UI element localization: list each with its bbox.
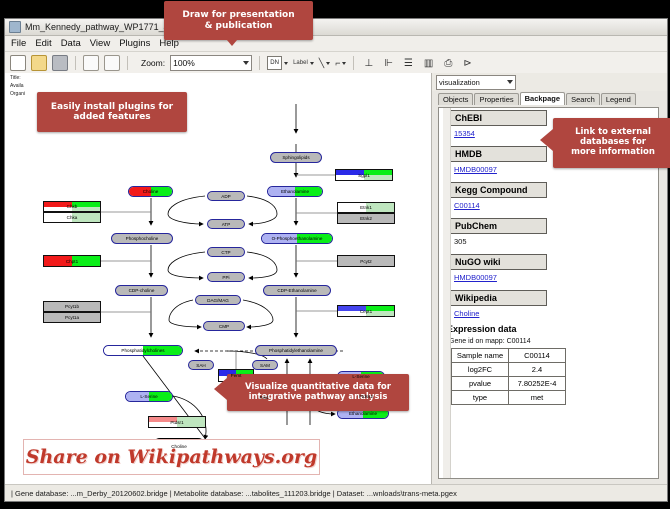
metabolite-node[interactable]: CDP-Ethanolamine [263, 285, 331, 296]
visualization-select[interactable]: visualization [436, 75, 516, 90]
metabolite-node[interactable]: CTP [207, 247, 245, 257]
app-icon [9, 21, 21, 33]
node-label: DAG/MAG [207, 298, 229, 303]
line-tool[interactable]: ╲ [319, 58, 330, 69]
db-wikipedia: Wikipedia Choline [449, 288, 658, 318]
metabolite-node[interactable]: L-Serine [125, 391, 173, 402]
node-label: CDP-choline [129, 288, 155, 293]
gene-node[interactable]: Chpt1 [43, 255, 101, 267]
node-label: Ethanolamine [281, 189, 309, 194]
open-folder-icon[interactable] [31, 55, 47, 71]
node-label: L-Serine [140, 394, 157, 399]
visualization-bar: visualization [432, 73, 667, 91]
callout-plugins: Easily install plugins for added feature… [37, 92, 187, 132]
expr-key: Sample name [452, 349, 509, 363]
tab-properties[interactable]: Properties [474, 93, 518, 105]
node-label: PPi [222, 275, 229, 280]
expr-value: met [509, 391, 566, 405]
panel-tabs: Objects Properties Backpage Search Legen… [432, 91, 667, 105]
gene-node[interactable]: Chkb [43, 201, 101, 212]
callout-draw-line1: Draw for presentation [182, 10, 294, 20]
arrow-tool[interactable]: ⌐ [335, 58, 346, 68]
visualization-value: visualization [439, 78, 480, 87]
toolbar-separator [127, 56, 128, 70]
node-label: Sphingolipids [282, 155, 309, 160]
node-label: Etnk2 [360, 216, 372, 221]
status-text: | Gene database: ...m_Derby_20120602.bri… [11, 489, 457, 498]
status-bar: | Gene database: ...m_Derby_20120602.bri… [5, 484, 667, 501]
metabolite-node[interactable]: SAH [188, 360, 214, 370]
metabolite-node[interactable]: DAG/MAG [195, 295, 241, 305]
callout-links-line3: more information [571, 148, 655, 158]
node-label: Chpt1 [66, 259, 78, 264]
gene-node[interactable]: Sgpl1 [335, 169, 393, 181]
line-icon: ╲ [319, 58, 324, 69]
expr-value: C00114 [509, 349, 566, 363]
callout-links-arrow [540, 129, 553, 151]
tab-legend[interactable]: Legend [601, 93, 636, 105]
callout-plugins-line2: added features [51, 112, 173, 122]
metabolite-node[interactable]: Choline [128, 186, 173, 197]
node-label: Pemt [231, 373, 242, 378]
node-label: Choline [143, 189, 159, 194]
db-pubchem-label: PubChem [449, 218, 547, 234]
node-label: ATP [222, 222, 231, 227]
paste-icon[interactable] [104, 55, 120, 71]
metabolite-node[interactable]: Ethanolamine [267, 186, 323, 197]
gene-node[interactable]: Pcyt2 [337, 255, 395, 267]
chevron-down-icon[interactable] [342, 62, 346, 65]
align-top-icon[interactable]: ⊥ [364, 58, 373, 69]
chevron-down-icon[interactable] [326, 62, 330, 65]
table-row: type met [452, 391, 566, 405]
callout-visualize: Visualize quantitative data for integrat… [227, 374, 409, 411]
db-kegg: Kegg Compound C00114 [449, 180, 658, 210]
db-pubchem-value: 305 [454, 237, 658, 246]
chevron-down-icon[interactable] [284, 62, 288, 65]
label-tool-label: Label [293, 60, 308, 66]
chevron-down-icon [507, 80, 513, 84]
callout-visualize-arrow [214, 378, 227, 400]
node-label: Pisd [260, 395, 269, 400]
arrow-icon: ⌐ [335, 58, 340, 68]
zoom-select[interactable]: 100% [170, 55, 252, 71]
gene-node[interactable]: Chka [43, 212, 101, 223]
db-kegg-label: Kegg Compound [449, 182, 547, 198]
table-row: Sample name C00114 [452, 349, 566, 363]
db-nugo: NuGO wiki HMDB00097 [449, 252, 658, 282]
expression-table: Sample name C00114 log2FC 2.4 pvalue 7.8… [451, 348, 566, 405]
chevron-down-icon[interactable] [310, 62, 314, 65]
tab-search[interactable]: Search [566, 93, 600, 105]
callout-draw-arrow [221, 33, 243, 46]
metabolite-node[interactable]: Phosphatidylethanolamine [255, 345, 337, 356]
label-tool[interactable]: Label [293, 60, 314, 66]
callout-plugins-line1: Easily install plugins for [51, 102, 173, 112]
node-label: Phosphatidylethanolamine [269, 348, 323, 353]
db-wikipedia-label: Wikipedia [449, 290, 547, 306]
expr-key: type [452, 391, 509, 405]
metabolite-node[interactable]: O-Phosphoethanolamine [261, 233, 333, 244]
node-label: CMP [219, 324, 229, 329]
node-label: Pcyt2 [360, 259, 372, 264]
gene-node[interactable]: Pcyt1a [43, 312, 101, 323]
node-label: Phosphatidylcholines [121, 348, 164, 353]
node-label: Etnk1 [360, 205, 372, 210]
callout-links: Link to external databases for more info… [553, 118, 670, 168]
db-pubchem: PubChem 305 [449, 216, 658, 246]
menu-view[interactable]: View [90, 38, 110, 49]
menu-bar: File Edit Data View Plugins Help [5, 36, 667, 52]
title-bar: Mm_Kennedy_pathway_WP1771_45176.gpml [5, 19, 667, 36]
expr-value: 7.80252E-4 [509, 377, 566, 391]
node-label: CTP [221, 250, 230, 255]
metabolite-node[interactable]: ADP [207, 191, 245, 201]
toolbar: Zoom: 100% DN Label ╲ ⌐ ⊥ [5, 52, 667, 75]
toolbar-separator [259, 56, 260, 70]
node-label: Sgpl1 [358, 173, 370, 178]
expression-heading: Expression data [447, 324, 658, 334]
node-label: Phosphocholine [126, 236, 159, 241]
node-label: Ptdsr1 [170, 420, 183, 425]
tab-objects[interactable]: Objects [438, 93, 473, 105]
metabolite-node[interactable]: Sphingolipids [270, 152, 322, 163]
node-label: Pcyt1b [65, 304, 79, 309]
expr-value: 2.4 [509, 363, 566, 377]
gene-id-label: Gene id on mapp: C00114 [449, 338, 658, 345]
table-row: log2FC 2.4 [452, 363, 566, 377]
menu-plugins[interactable]: Plugins [119, 38, 150, 49]
share-banner-text: Share on Wikipathways.org [26, 446, 317, 468]
node-label: Choline [171, 444, 187, 449]
group-icon[interactable]: ⎙ [444, 58, 452, 69]
toolbar-separator [353, 56, 354, 70]
tab-backpage[interactable]: Backpage [520, 92, 565, 105]
save-icon[interactable] [52, 55, 68, 71]
menu-file[interactable]: File [11, 38, 26, 49]
node-label: L-Serine [352, 374, 369, 379]
gene-node[interactable]: Pcyt1b [43, 301, 101, 312]
node-label: Chka [67, 215, 78, 220]
metabolite-node[interactable]: SAM [252, 360, 278, 370]
metabolite-node[interactable]: Phosphatidylcholines [103, 345, 183, 356]
node-label: SAM [260, 363, 270, 368]
chevron-down-icon [243, 61, 249, 65]
datanode-icon: DN [267, 56, 282, 70]
node-label: O-Phosphoethanolamine [272, 236, 323, 241]
db-nugo-label: NuGO wiki [449, 254, 547, 270]
db-hmdb-label: HMDB [449, 146, 547, 162]
zoom-label: Zoom: [141, 58, 165, 68]
node-label: Ethanolamine [349, 411, 377, 416]
align-left-icon[interactable]: ⊩ [384, 58, 393, 69]
gene-node[interactable]: Cept1 [337, 305, 395, 317]
stack-icon[interactable]: ☰ [404, 58, 413, 69]
node-label: Pcyt1a [65, 315, 79, 320]
copy-icon[interactable] [83, 55, 99, 71]
node-label: Cept1 [360, 309, 372, 314]
node-label: ADP [221, 194, 230, 199]
datanode-tool[interactable]: DN [267, 56, 288, 70]
expr-key: pvalue [452, 377, 509, 391]
menu-data[interactable]: Data [61, 38, 81, 49]
db-wikipedia-link[interactable]: Choline [454, 309, 658, 318]
order-icon[interactable]: ⊳ [463, 58, 471, 69]
metabolite-node[interactable]: CMP [203, 321, 245, 331]
panel-scrollbar[interactable] [443, 108, 451, 478]
gene-node[interactable]: Ptdsr1 [148, 416, 206, 428]
gene-node[interactable]: Etnk2 [337, 213, 395, 224]
menu-edit[interactable]: Edit [35, 38, 51, 49]
distribute-icon[interactable]: ▥ [424, 58, 433, 69]
node-label: SAH [196, 363, 205, 368]
gene-node[interactable]: Etnk1 [337, 202, 395, 213]
node-label: Ptdss2 [359, 394, 373, 399]
callout-draw-line2: & publication [182, 21, 294, 31]
node-label: CDP-Ethanolamine [277, 288, 316, 293]
expr-key: log2FC [452, 363, 509, 377]
metabolite-node[interactable]: PPi [207, 272, 245, 282]
new-file-icon[interactable] [10, 55, 26, 71]
table-row: pvalue 7.80252E-4 [452, 377, 566, 391]
screenshot-root: Mm_Kennedy_pathway_WP1771_45176.gpml Fil… [0, 0, 670, 509]
toolbar-separator [75, 56, 76, 70]
metabolite-node[interactable]: CDP-choline [115, 285, 168, 296]
db-kegg-link[interactable]: C00114 [454, 201, 658, 210]
db-chebi-label: ChEBI [449, 110, 547, 126]
metabolite-node[interactable]: Phosphocholine [111, 233, 173, 244]
application-window: Mm_Kennedy_pathway_WP1771_45176.gpml Fil… [4, 18, 668, 502]
metabolite-node[interactable]: ATP [207, 219, 245, 229]
node-label: Chkb [67, 204, 78, 209]
pathway-canvas[interactable]: Title: Availa Organi [5, 73, 432, 485]
db-nugo-link[interactable]: HMDB00097 [454, 273, 658, 282]
zoom-value: 100% [173, 58, 195, 68]
